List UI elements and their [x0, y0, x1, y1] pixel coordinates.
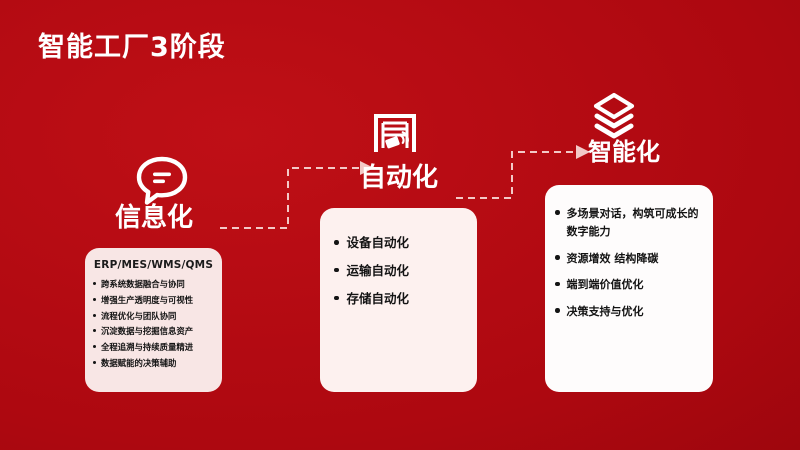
- stage-group-intelligentization: 智能化: [540, 0, 770, 190]
- factory-shutter-icon: [372, 110, 418, 160]
- stage-label-intelligentization: 智能化: [588, 140, 660, 164]
- list-item-label: 决策支持与优化: [567, 303, 706, 321]
- stage-label-automation: 自动化: [360, 165, 438, 191]
- stage-group-automation: 自动化: [300, 0, 520, 210]
- list-item-label: 运输自动化: [347, 262, 468, 281]
- list-item: 增强生产透明度与可视性: [93, 294, 214, 308]
- bullet-dot-icon: [555, 282, 560, 287]
- list-item: 沉淀数据与挖掘信息资产: [93, 325, 214, 339]
- bullet-dot-icon: [555, 210, 560, 215]
- bullet-dot-icon: [334, 240, 339, 245]
- slide-canvas: 智能工厂3阶段 信息化 ERP/MES/WMS/QMS 跨系统数据融合与协同: [0, 0, 800, 450]
- list-item-label: 多场景对话，构筑可成长的数字能力: [567, 205, 706, 242]
- list-item-label: 端到端价值优化: [567, 276, 706, 294]
- list-item-label: 全程追溯与持续质量精进: [101, 341, 214, 355]
- stage-card-intelligentization: 多场景对话，构筑可成长的数字能力 资源增效 结构降碳 端到端价值优化 决策支持与…: [545, 185, 713, 392]
- bullet-list-automation: 设备自动化 运输自动化 存储自动化: [334, 234, 467, 308]
- stage-label-informatization: 信息化: [115, 205, 193, 231]
- stacked-layers-icon: [592, 92, 636, 144]
- list-item: 端到端价值优化: [555, 276, 705, 294]
- bullet-dot-icon: [555, 308, 560, 313]
- list-item-label: 存储自动化: [347, 290, 468, 309]
- bullet-dot-icon: [93, 345, 96, 348]
- list-item: 资源增效 结构降碳: [555, 250, 705, 268]
- list-item: 数据赋能的决策辅助: [93, 357, 214, 371]
- card-header-systems: ERP/MES/WMS/QMS: [93, 259, 214, 271]
- list-item: 多场景对话，构筑可成长的数字能力: [555, 205, 705, 242]
- list-item-label: 资源增效 结构降碳: [567, 250, 706, 268]
- list-item-label: 数据赋能的决策辅助: [101, 357, 214, 371]
- stage-group-informatization: 信息化: [0, 0, 260, 250]
- bullet-dot-icon: [93, 329, 96, 332]
- bullet-list-intelligentization: 多场景对话，构筑可成长的数字能力 资源增效 结构降碳 端到端价值优化 决策支持与…: [555, 205, 705, 321]
- stage-card-informatization: ERP/MES/WMS/QMS 跨系统数据融合与协同 增强生产透明度与可视性 流…: [85, 248, 222, 392]
- stage-card-automation: 设备自动化 运输自动化 存储自动化: [320, 208, 477, 392]
- list-item: 流程优化与团队协同: [93, 310, 214, 324]
- bullet-dot-icon: [93, 282, 96, 285]
- bullet-dot-icon: [555, 255, 560, 260]
- bullet-dot-icon: [93, 314, 96, 317]
- list-item-label: 设备自动化: [347, 234, 468, 253]
- list-item: 跨系统数据融合与协同: [93, 278, 214, 292]
- list-item: 运输自动化: [334, 262, 467, 281]
- bullet-dot-icon: [93, 361, 96, 364]
- list-item-label: 增强生产透明度与可视性: [101, 294, 214, 308]
- bullet-dot-icon: [334, 296, 339, 301]
- speech-bubble-icon: [136, 156, 188, 210]
- list-item: 设备自动化: [334, 234, 467, 253]
- list-item-label: 流程优化与团队协同: [101, 310, 214, 324]
- list-item: 存储自动化: [334, 290, 467, 309]
- list-item-label: 沉淀数据与挖掘信息资产: [101, 325, 214, 339]
- list-item: 决策支持与优化: [555, 303, 705, 321]
- bullet-dot-icon: [93, 298, 96, 301]
- bullet-list-informatization: 跨系统数据融合与协同 增强生产透明度与可视性 流程优化与团队协同 沉淀数据与挖掘…: [93, 278, 214, 371]
- list-item-label: 跨系统数据融合与协同: [101, 278, 214, 292]
- list-item: 全程追溯与持续质量精进: [93, 341, 214, 355]
- bullet-dot-icon: [334, 268, 339, 273]
